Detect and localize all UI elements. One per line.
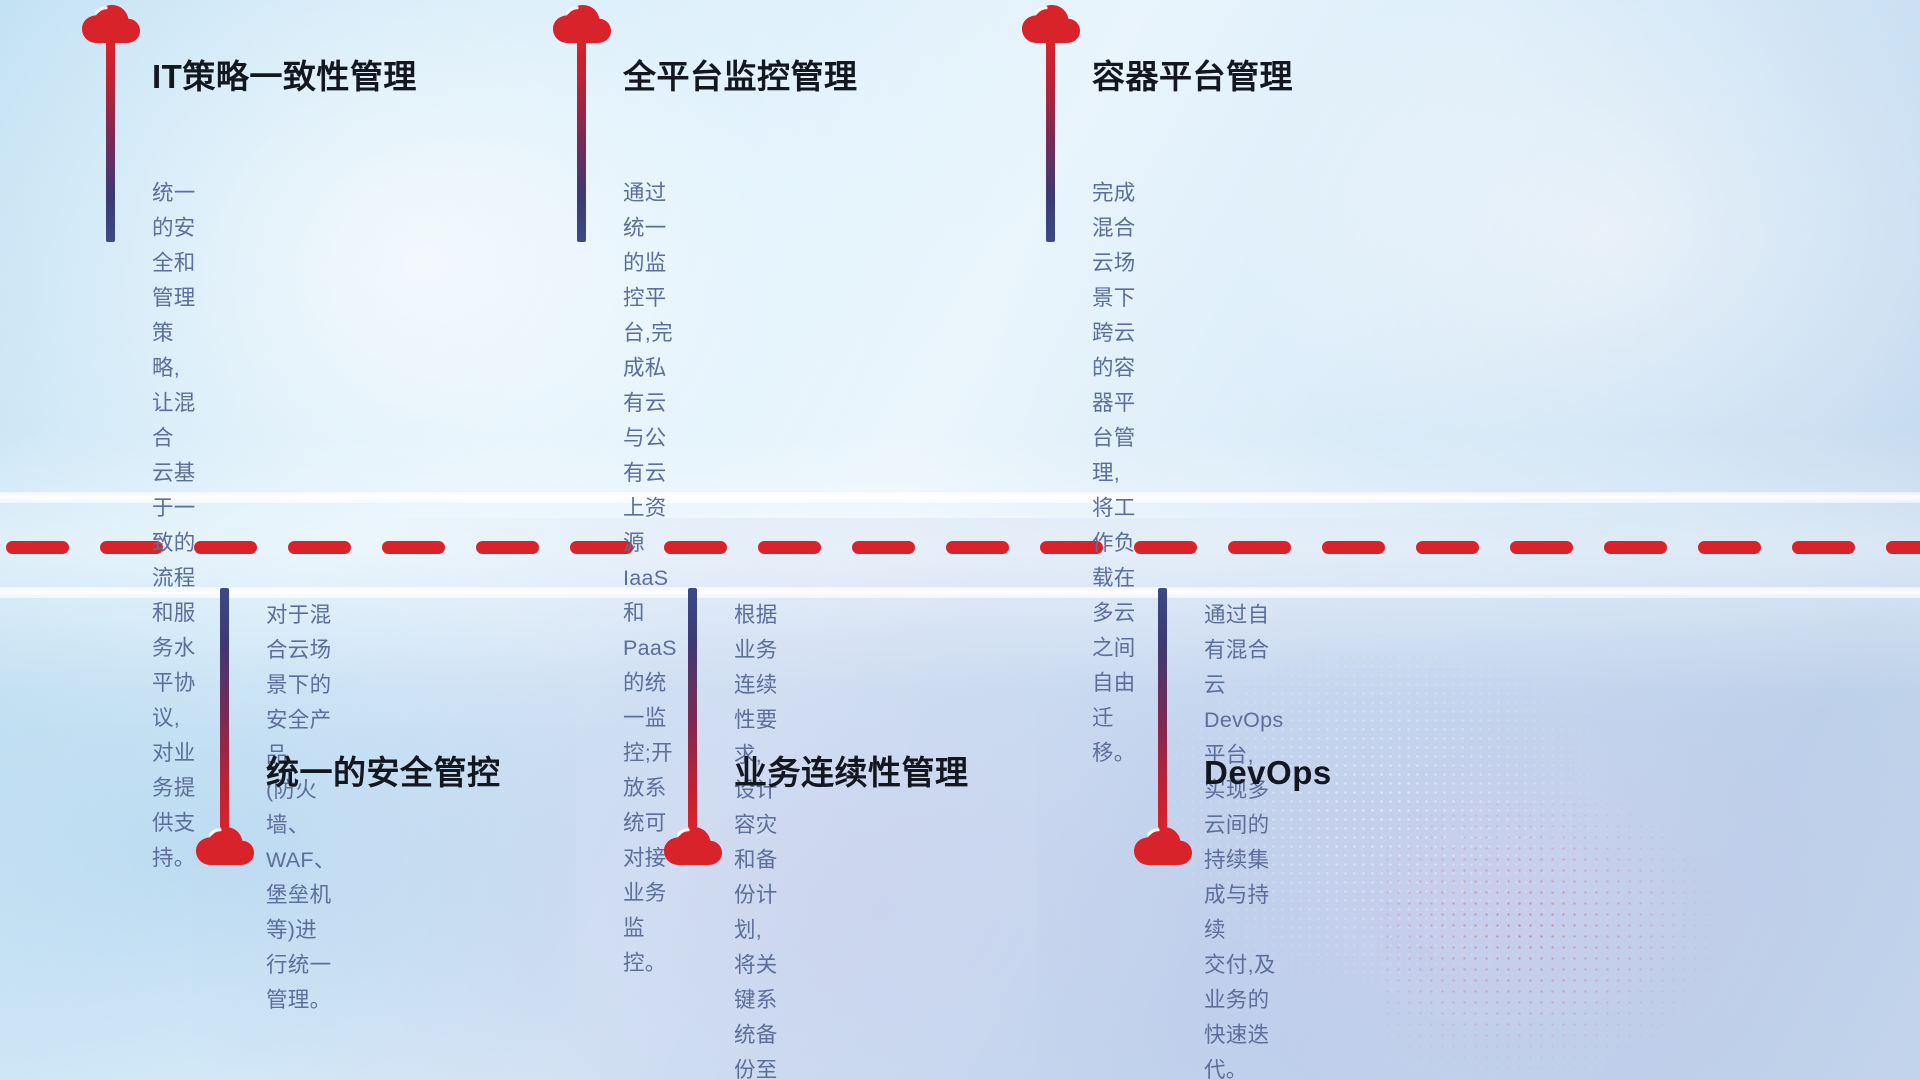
road-dash <box>382 541 445 554</box>
road-edge-bottom <box>0 587 1920 598</box>
road-dash <box>1886 541 1920 554</box>
feature-title: 容器平台管理 <box>1092 60 1293 93</box>
feature-title: 业务连续性管理 <box>734 756 969 789</box>
cloud-icon <box>662 822 724 866</box>
road-dash <box>194 541 257 554</box>
road-dash <box>6 541 69 554</box>
feature-title: IT策略一致性管理 <box>152 60 417 93</box>
feature-title: 统一的安全管控 <box>266 756 501 789</box>
feature-description: 通过自有混合云DevOps平台, 实现多云间的持续集成与持续 交付,及业务的快速… <box>1204 598 1283 1080</box>
road-dash <box>1698 541 1761 554</box>
feature-title: DevOps <box>1204 756 1332 789</box>
road-dash <box>1322 541 1385 554</box>
bottom-feature-row: 对于混合云场景下的安全产品 (防火墙、WAF、堡垒机等)进 行统一管理。 统一的… <box>0 598 1920 1080</box>
connector-stem <box>106 42 115 242</box>
cloud-icon <box>80 0 142 44</box>
connector-stem <box>220 588 229 828</box>
road-dash <box>1134 541 1197 554</box>
road-dash <box>476 541 539 554</box>
road-dash <box>288 541 351 554</box>
connector-stem <box>577 42 586 242</box>
cloud-icon <box>1020 0 1082 44</box>
road-dash <box>758 541 821 554</box>
feature-description: 对于混合云场景下的安全产品 (防火墙、WAF、堡垒机等)进 行统一管理。 <box>266 598 336 1018</box>
feature-description: 根据业务连续性要求,设计容灾 和备份计划,将关键系统备份至 线上/线下,并定期校… <box>734 598 778 1080</box>
road-dash <box>1510 541 1573 554</box>
road-center-dashed-line <box>0 540 1920 554</box>
connector-stem <box>1046 42 1055 242</box>
road-edge-top <box>0 492 1920 503</box>
road-dash <box>1416 541 1479 554</box>
cloud-icon <box>551 0 613 44</box>
road-dash <box>852 541 915 554</box>
cloud-icon <box>1132 822 1194 866</box>
feature-title: 全平台监控管理 <box>623 60 858 93</box>
road-dash <box>1604 541 1667 554</box>
connector-stem <box>688 588 697 828</box>
road-dash <box>1792 541 1855 554</box>
road-dash <box>946 541 1009 554</box>
road-dash <box>1228 541 1291 554</box>
cloud-icon <box>194 822 256 866</box>
top-feature-row: IT策略一致性管理 统一的安全和管理策略,让混合 云基于一致的流程和服务水平协 … <box>0 0 1920 492</box>
connector-stem <box>1158 588 1167 828</box>
